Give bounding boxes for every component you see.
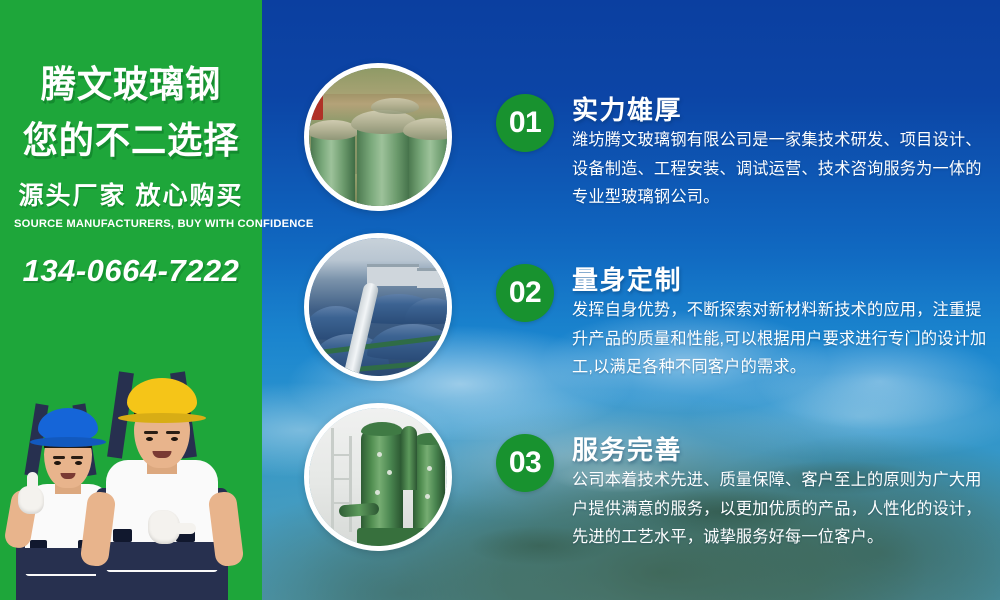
feature-body-3: 公司本着技术先进、质量保障、客户至上的原则为广大用户提供满意的服务，以更加优质的… [572,466,992,552]
green-brand-panel: 腾文玻璃钢 您的不二选择 源头厂家 放心购买 SOURCE MANUFACTUR… [0,0,262,600]
feature-heading-1: 实力雄厚 [572,94,992,126]
feature-number-badge-2: 02 [496,264,554,322]
promo-banner: 腾文玻璃钢 您的不二选择 源头厂家 放心购买 SOURCE MANUFACTUR… [0,0,1000,600]
feature-heading-2: 量身定制 [572,264,992,296]
brand-slogan-english: SOURCE MANUFACTURERS, BUY WITH CONFIDENC… [14,217,248,231]
workers-illustration [0,370,262,600]
feature-block-1: 01 实力雄厚 潍坊腾文玻璃钢有限公司是一家集技术研发、项目设计、设备制造、工程… [496,94,992,212]
frp-scrubber-towers-photo[interactable] [304,403,452,551]
worker-front [86,372,238,600]
contact-phone-number[interactable]: 134-0664-7222 [14,253,248,289]
feature-block-3: 03 服务完善 公司本着技术先进、质量保障、客户至上的原则为广大用户提供满意的服… [496,434,992,552]
brand-subtitle: 您的不二选择 [20,118,242,163]
feature-number-badge-3: 03 [496,434,554,492]
feature-body-2: 发挥自身优势，不断探索对新材料新技术的应用，注重提升产品的质量和性能,可以根据用… [572,296,992,382]
feature-body-1: 潍坊腾文玻璃钢有限公司是一家集技术研发、项目设计、设备制造、工程安装、调试运营、… [572,126,992,212]
brand-block: 腾文玻璃钢 您的不二选择 源头厂家 放心购买 SOURCE MANUFACTUR… [0,0,262,289]
frp-storage-tanks-photo[interactable] [304,63,452,211]
feature-block-2: 02 量身定制 发挥自身优势，不断探索对新材料新技术的应用，注重提升产品的质量和… [496,264,992,382]
frp-covered-tanks-plant-photo[interactable] [304,233,452,381]
brand-title: 腾文玻璃钢 [20,62,242,107]
feature-number-badge-1: 01 [496,94,554,152]
feature-heading-3: 服务完善 [572,434,992,466]
brand-slogan: 源头厂家 放心购买 [14,181,248,211]
